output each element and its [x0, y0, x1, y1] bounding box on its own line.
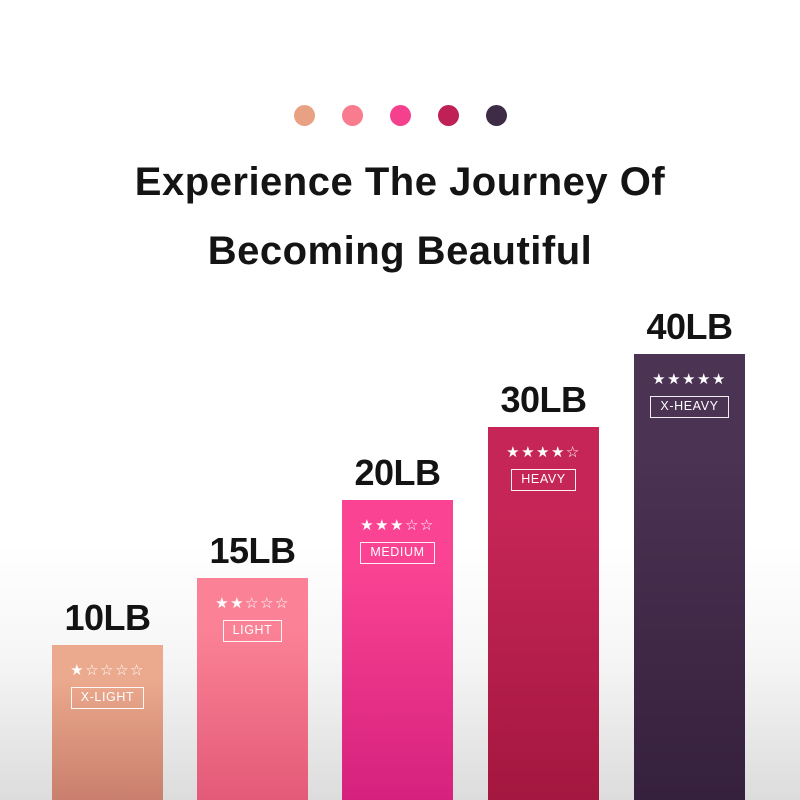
- bar-content: ★☆☆☆☆X-LIGHT: [52, 645, 163, 709]
- bar-weight-label: 15LB: [209, 530, 295, 572]
- level-badge: X-LIGHT: [71, 687, 145, 709]
- bar-group-x-light[interactable]: 10LB★☆☆☆☆X-LIGHT: [52, 645, 163, 800]
- bar-group-heavy[interactable]: 30LB★★★★☆HEAVY: [488, 427, 599, 800]
- bar-weight-label: 20LB: [354, 452, 440, 494]
- level-badge: LIGHT: [223, 620, 283, 642]
- star-rating-icon: ★★★☆☆: [360, 518, 435, 533]
- star-rating-icon: ★★★★☆: [506, 445, 581, 460]
- bar-weight-label: 40LB: [646, 306, 732, 348]
- bar-content: ★★★★★X-HEAVY: [634, 354, 745, 418]
- bar-weight-label: 10LB: [64, 597, 150, 639]
- bar-rect[interactable]: ★★☆☆☆LIGHT: [197, 578, 308, 800]
- bar-group-light[interactable]: 15LB★★☆☆☆LIGHT: [197, 578, 308, 800]
- bar-content: ★★★★☆HEAVY: [488, 427, 599, 491]
- bar-rect[interactable]: ★★★★★X-HEAVY: [634, 354, 745, 800]
- level-badge: MEDIUM: [360, 542, 434, 564]
- star-rating-icon: ★☆☆☆☆: [70, 663, 145, 678]
- bar-rect[interactable]: ★☆☆☆☆X-LIGHT: [52, 645, 163, 800]
- bar-group-medium[interactable]: 20LB★★★☆☆MEDIUM: [342, 500, 453, 800]
- bar-rect[interactable]: ★★★☆☆MEDIUM: [342, 500, 453, 800]
- resistance-band-bar-chart: 10LB★☆☆☆☆X-LIGHT15LB★★☆☆☆LIGHT20LB★★★☆☆M…: [0, 0, 800, 800]
- level-badge: HEAVY: [511, 469, 575, 491]
- level-badge: X-HEAVY: [650, 396, 728, 418]
- bar-weight-label: 30LB: [500, 379, 586, 421]
- bar-content: ★★☆☆☆LIGHT: [197, 578, 308, 642]
- star-rating-icon: ★★★★★: [652, 372, 727, 387]
- bar-content: ★★★☆☆MEDIUM: [342, 500, 453, 564]
- bar-group-x-heavy[interactable]: 40LB★★★★★X-HEAVY: [634, 354, 745, 800]
- bar-rect[interactable]: ★★★★☆HEAVY: [488, 427, 599, 800]
- star-rating-icon: ★★☆☆☆: [215, 596, 290, 611]
